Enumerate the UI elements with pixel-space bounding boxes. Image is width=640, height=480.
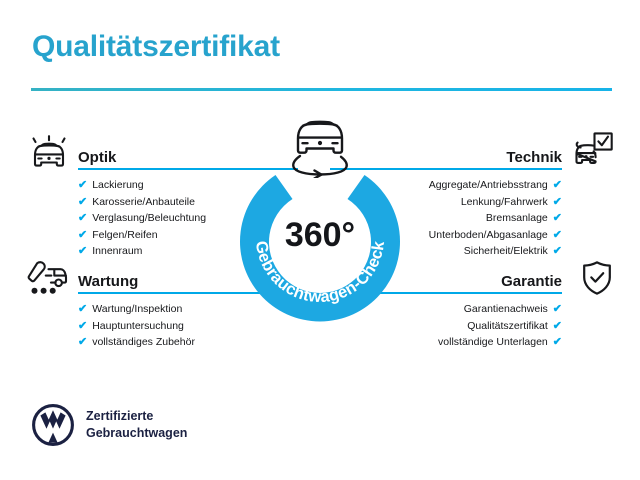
list-item: ✔vollständiges Zubehör: [78, 334, 310, 351]
check-icon: ✔: [78, 227, 87, 244]
footer-line-2: Gebrauchtwagen: [86, 425, 187, 442]
list-item-label: Sicherheit/Elektrik: [464, 245, 548, 257]
check-icon: ✔: [78, 243, 87, 260]
section-title-wartung: Wartung: [78, 273, 138, 290]
section-title-garantie: Garantie: [501, 273, 562, 290]
section-title-technik: Technik: [506, 149, 562, 166]
check-icon: ✔: [78, 194, 87, 211]
list-item-label: Qualitätszertifikat: [467, 320, 548, 332]
shield-check-icon: [574, 259, 620, 297]
section-title-optik: Optik: [78, 149, 116, 166]
list-item: vollständige Unterlagen✔: [330, 334, 562, 351]
volkswagen-logo: [32, 404, 74, 446]
title-divider: [31, 88, 612, 91]
check-icon: ✔: [78, 301, 87, 318]
check-icon: ✔: [553, 243, 562, 260]
badge-center-label: 360°: [230, 216, 410, 255]
list-item-label: Verglasung/Beleuchtung: [92, 212, 206, 224]
check-icon: ✔: [553, 210, 562, 227]
check-icon: ✔: [553, 194, 562, 211]
list-item-label: Karosserie/Anbauteile: [92, 196, 195, 208]
footer-line-1: Zertifizierte: [86, 408, 187, 425]
check-icon: ✔: [553, 301, 562, 318]
list-item-label: Garantienachweis: [464, 303, 548, 315]
list-item-label: Unterboden/Abgasanlage: [429, 229, 548, 241]
car-checkbox-icon: [568, 131, 614, 169]
check-icon: ✔: [553, 177, 562, 194]
list-item-label: Innenraum: [92, 245, 142, 257]
list-item-label: Bremsanlage: [486, 212, 548, 224]
list-item-label: Wartung/Inspektion: [92, 303, 182, 315]
footer-brand-text: Zertifizierte Gebrauchtwagen: [86, 408, 187, 442]
check-icon: ✔: [553, 227, 562, 244]
list-item-label: vollständiges Zubehör: [92, 336, 195, 348]
list-item-label: Lackierung: [92, 179, 143, 191]
check-icon: ✔: [78, 318, 87, 335]
check-icon: ✔: [553, 318, 562, 335]
check-icon: ✔: [78, 334, 87, 351]
list-item-label: Lenkung/Fahrwerk: [461, 196, 548, 208]
check-icon: ✔: [78, 177, 87, 194]
car-front-light-rays-icon: [26, 133, 72, 171]
check-icon: ✔: [553, 334, 562, 351]
wrench-car-service-icon: [24, 259, 70, 297]
check-icon: ✔: [78, 210, 87, 227]
list-item-label: Aggregate/Antriebsstrang: [429, 179, 548, 191]
badge-360-gebrauchtwagen-check: Gebrauchtwagen-Check 360°: [230, 148, 410, 328]
list-item-label: Felgen/Reifen: [92, 229, 157, 241]
list-item-label: Hauptuntersuchung: [92, 320, 184, 332]
certificate-page: Qualitätszertifikat: [0, 0, 640, 480]
list-item-label: vollständige Unterlagen: [438, 336, 548, 348]
car-front-rotate-icon: [278, 116, 362, 178]
page-title: Qualitätszertifikat: [32, 30, 280, 64]
